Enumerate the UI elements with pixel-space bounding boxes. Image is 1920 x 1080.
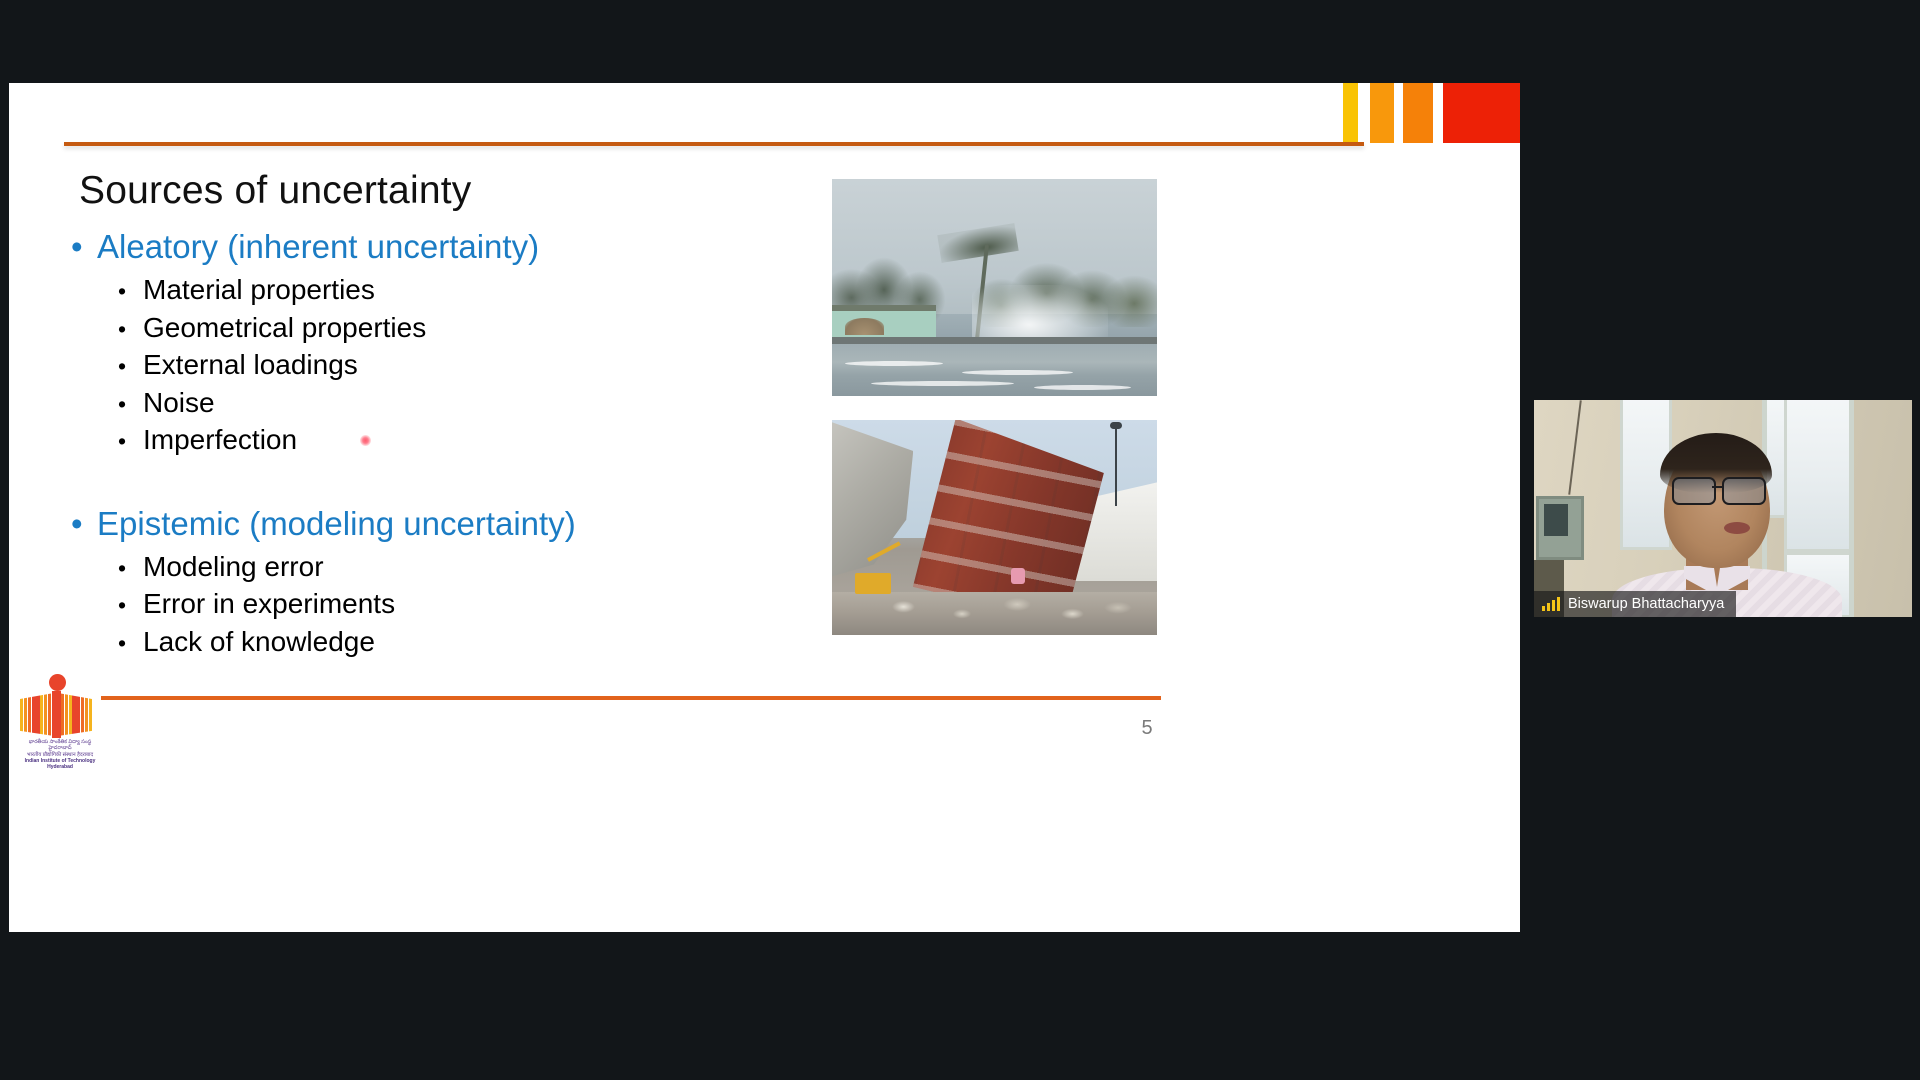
quake-rubble-debris — [832, 588, 1157, 635]
bullet-glyph: • — [71, 507, 97, 540]
list-item: • External loadings — [118, 349, 831, 381]
slide-body-content: • Aleatory (inherent uncertainty) • Mate… — [71, 228, 831, 663]
list-item: • Error in experiments — [118, 588, 831, 620]
decorative-bar-orange — [1403, 83, 1433, 143]
bullet-glyph: • — [118, 280, 143, 303]
logo-text: భారతీయ సాంకేతిక విద్యా సంస్థ హైదరాబాద్ भ… — [17, 739, 103, 770]
bullet-glyph: • — [71, 230, 97, 263]
section-heading-text: Aleatory (inherent uncertainty) — [97, 228, 539, 266]
logo-dot — [49, 674, 66, 691]
participant-name-bar: Biswarup Bhattacharyya — [1534, 591, 1736, 617]
list-item: • Material properties — [118, 274, 831, 306]
cam-monitor — [1536, 496, 1584, 560]
iit-hyderabad-logo: భారతీయ సాంకేతిక విద్యా సంస్థ హైదరాబాద్ भ… — [17, 673, 95, 757]
bullet-glyph: • — [118, 632, 143, 655]
bullet-glyph: • — [118, 393, 143, 416]
cam-glasses-lens-left — [1672, 477, 1716, 505]
footer-rule — [101, 696, 1161, 700]
list-item-label: External loadings — [143, 349, 358, 381]
list-item-label: Geometrical properties — [143, 312, 426, 344]
cam-glasses-bridge — [1712, 486, 1722, 488]
list-item: • Modeling error — [118, 551, 831, 583]
title-underline-rule — [64, 142, 1364, 146]
bullet-glyph: • — [118, 557, 143, 580]
list-item-label: Error in experiments — [143, 588, 395, 620]
quake-street-lamp-pole — [1115, 424, 1117, 506]
list-item-label: Imperfection — [143, 424, 297, 456]
list-item: • Geometrical properties — [118, 312, 831, 344]
quake-street-lamp-head — [1110, 422, 1122, 429]
quake-pink-debris — [1011, 568, 1025, 584]
slide-page-number: 5 — [1135, 717, 1159, 740]
list-item: • Imperfection — [118, 424, 831, 456]
section-heading-aleatory: • Aleatory (inherent uncertainty) — [71, 228, 831, 266]
storm-hut — [845, 318, 884, 335]
list-item-label: Material properties — [143, 274, 375, 306]
logo-book-left — [20, 693, 54, 736]
list-item-label: Noise — [143, 387, 215, 419]
logo-book-right — [58, 693, 92, 736]
section-heading-epistemic: • Epistemic (modeling uncertainty) — [71, 505, 831, 543]
logo-book-spine — [52, 691, 61, 738]
cam-person-mouth — [1724, 522, 1750, 534]
bullet-glyph: • — [118, 355, 143, 378]
earthquake-photo — [832, 420, 1157, 635]
storm-photo — [832, 179, 1157, 396]
quake-excavator — [855, 573, 891, 595]
logo-text-english: Indian Institute of Technology Hyderabad — [17, 758, 103, 770]
signal-bars-icon — [1542, 597, 1560, 611]
presentation-slide[interactable]: Sources of uncertainty • Aleatory (inher… — [9, 83, 1520, 932]
storm-wave — [962, 370, 1073, 375]
list-item: • Noise — [118, 387, 831, 419]
cam-glasses-lens-right — [1722, 477, 1766, 505]
cam-monitor-screen — [1544, 504, 1568, 536]
bullet-glyph: • — [118, 318, 143, 341]
slide-title: Sources of uncertainty — [79, 169, 471, 213]
laser-pointer-dot — [360, 435, 371, 446]
section-heading-text: Epistemic (modeling uncertainty) — [97, 505, 576, 543]
bullet-glyph: • — [118, 594, 143, 617]
section-spacer — [71, 462, 831, 505]
participant-video-tile[interactable]: Biswarup Bhattacharyya — [1534, 400, 1912, 617]
bullet-glyph: • — [118, 430, 143, 453]
list-item-label: Lack of knowledge — [143, 626, 375, 658]
decorative-bar-orange-light — [1370, 83, 1394, 143]
storm-wave — [871, 381, 1014, 386]
logo-text-telugu: భారతీయ సాంకేతిక విద్యా సంస్థ హైదరాబాద్ — [17, 739, 103, 752]
list-item-label: Modeling error — [143, 551, 324, 583]
screen-share-view: Sources of uncertainty • Aleatory (inher… — [0, 0, 1920, 1080]
decorative-bar-red — [1443, 83, 1520, 143]
participant-name-label: Biswarup Bhattacharyya — [1568, 596, 1724, 612]
decorative-bar-yellow — [1343, 83, 1358, 143]
storm-sea-spray — [972, 285, 1109, 341]
cam-person-glasses — [1672, 477, 1768, 503]
list-item: • Lack of knowledge — [118, 626, 831, 658]
